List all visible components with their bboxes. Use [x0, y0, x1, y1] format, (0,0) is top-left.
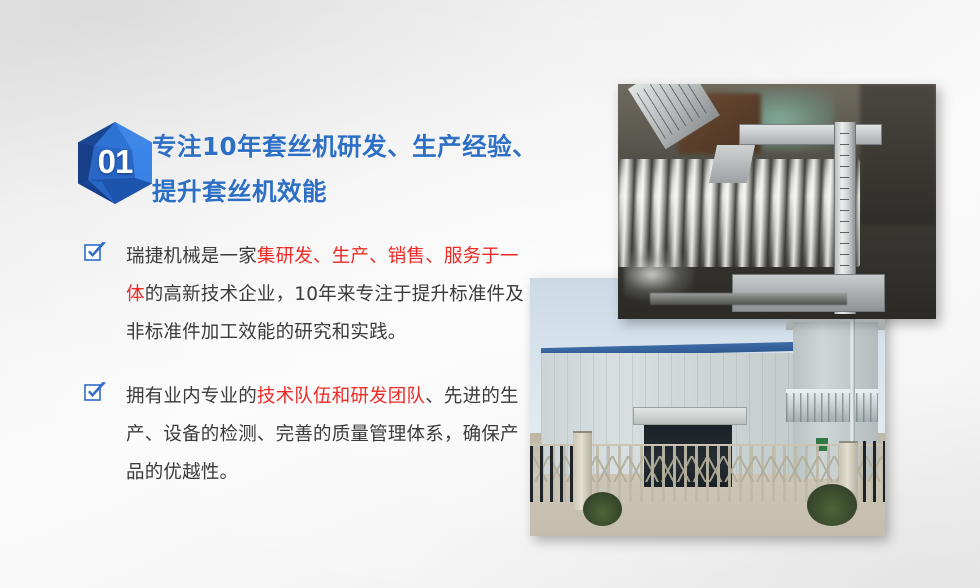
list-item-text: 瑞捷机械是一家集研发、生产、销售、服务于一体的高新技术企业，10年来专注于提升标… [126, 238, 534, 352]
caliper-upper-arm [739, 124, 882, 145]
photo-thread-rolling-closeup [618, 84, 936, 319]
page-title-line-1: 专注10年套丝机研发、生产经验、 [152, 124, 552, 169]
list-item-seg-plain-2: 的高新技术企业，10年来专注于提升标准件及非标准件加工效能的研究和实践。 [126, 284, 524, 343]
shrub-right [807, 484, 857, 525]
banner-stage: 01 专注10年套丝机研发、生产经验、 提升套丝机效能 瑞捷机械是一家集研发、生… [0, 0, 980, 588]
section-number-badge: 01 [72, 120, 158, 206]
shrub-left [583, 492, 622, 526]
page-title-line-2: 提升套丝机效能 [152, 169, 552, 214]
office-balcony-railing [786, 389, 878, 422]
page-title: 专注10年套丝机研发、生产经验、 提升套丝机效能 [152, 124, 552, 214]
background-dark-area [860, 84, 936, 225]
list-item-seg-plain: 瑞捷机械是一家 [126, 246, 257, 267]
list-item-seg-plain: 拥有业内专业的 [126, 386, 257, 407]
list-item: 拥有业内专业的技术队伍和研发团队、先进的生产、设备的检测、完善的质量管理体系，确… [84, 378, 534, 492]
door-canopy [633, 407, 747, 425]
check-box-icon [84, 242, 108, 264]
content-column: 01 专注10年套丝机研发、生产经验、 提升套丝机效能 瑞捷机械是一家集研发、生… [0, 0, 560, 588]
thread-rolling-image [618, 84, 936, 319]
coolant-splash [624, 249, 694, 301]
check-box-icon [84, 382, 108, 404]
left-iron-fence [530, 446, 576, 503]
section-number-text: 01 [72, 120, 158, 206]
feature-list: 瑞捷机械是一家集研发、生产、销售、服务于一体的高新技术企业，10年来专注于提升标… [84, 238, 534, 518]
list-item-seg-highlight: 技术队伍和研发团队 [257, 386, 425, 407]
list-item: 瑞捷机械是一家集研发、生产、销售、服务于一体的高新技术企业，10年来专注于提升标… [84, 238, 534, 352]
list-item-text: 拥有业内专业的技术队伍和研发团队、先进的生产、设备的检测、完善的质量管理体系，确… [126, 378, 534, 492]
